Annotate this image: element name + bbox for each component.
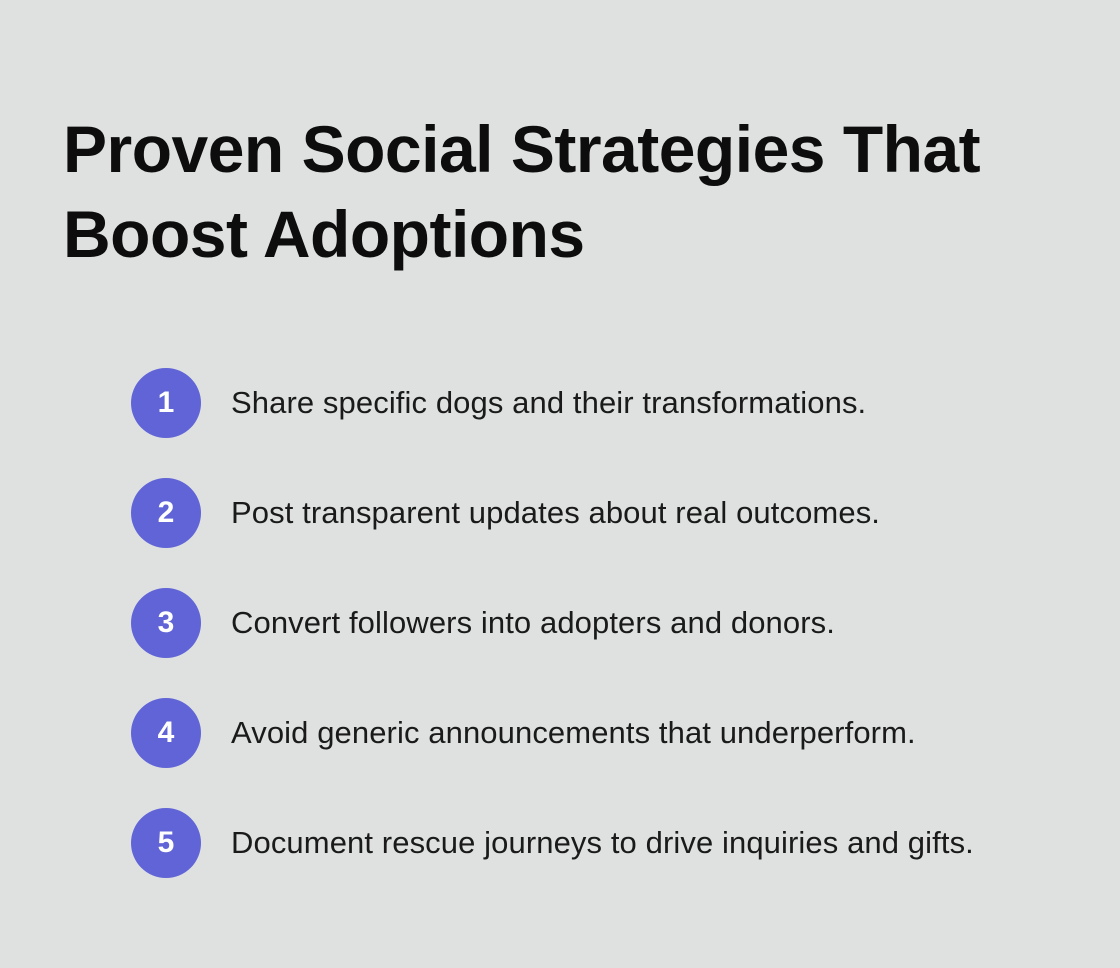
step-number-badge: 5 — [131, 808, 201, 878]
step-number-badge: 4 — [131, 698, 201, 768]
step-text: Convert followers into adopters and dono… — [231, 604, 1081, 642]
step-text: Document rescue journeys to drive inquir… — [231, 824, 1081, 862]
list-item: 2 Post transparent updates about real ou… — [131, 478, 1081, 548]
step-text: Post transparent updates about real outc… — [231, 494, 1081, 532]
infographic-canvas: Proven Social Strategies That Boost Adop… — [0, 0, 1120, 968]
list-item: 4 Avoid generic announcements that under… — [131, 698, 1081, 768]
step-text: Share specific dogs and their transforma… — [231, 384, 1081, 422]
list-item: 5 Document rescue journeys to drive inqu… — [131, 808, 1081, 878]
step-text: Avoid generic announcements that underpe… — [231, 714, 1081, 752]
step-number-badge: 2 — [131, 478, 201, 548]
step-number-badge: 3 — [131, 588, 201, 658]
page-title: Proven Social Strategies That Boost Adop… — [63, 107, 1003, 277]
list-item: 3 Convert followers into adopters and do… — [131, 588, 1081, 658]
step-number-badge: 1 — [131, 368, 201, 438]
list-item: 1 Share specific dogs and their transfor… — [131, 368, 1081, 438]
numbered-steps-list: 1 Share specific dogs and their transfor… — [131, 368, 1081, 878]
